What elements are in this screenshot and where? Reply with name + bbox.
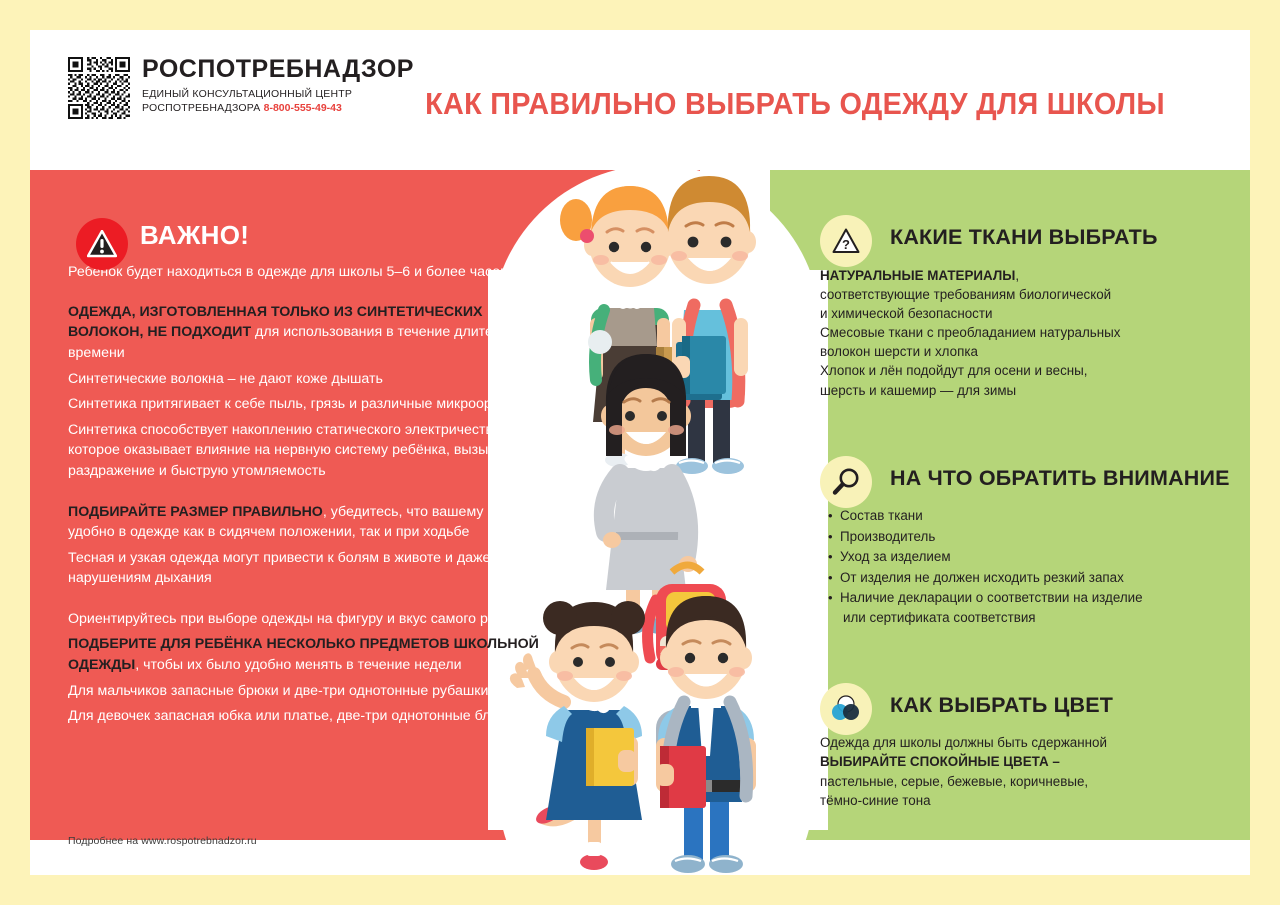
right-content: ? КАКИЕ ТКАНИ ВЫБРАТЬ НАТУРАЛЬНЫЕ МАТЕРИ… <box>820 215 1240 824</box>
size-line-1: Тесная и узкая одежда могут привести к б… <box>68 548 548 589</box>
color-line-2: тёмно-синие тона <box>820 793 931 808</box>
fabrics-line-5: Хлопок и лён подойдут для осени и весны, <box>820 363 1088 378</box>
attention-item-3: Уход за изделием <box>840 549 951 564</box>
section-fabrics: ? КАКИЕ ТКАНИ ВЫБРАТЬ НАТУРАЛЬНЫЕ МАТЕРИ… <box>820 215 1240 400</box>
synthetic-line-1: Синтетические волокна – не дают коже дыш… <box>68 369 548 390</box>
brand-subtitle: ЕДИНЫЙ КОНСУЛЬТАЦИОННЫЙ ЦЕНТР РОСПОТРЕБН… <box>142 87 414 115</box>
section-attention-title: НА ЧТО ОБРАТИТЬ ВНИМАНИЕ <box>890 456 1240 491</box>
color-wheel-icon <box>820 683 872 735</box>
left-block-wardrobe: ПОДБЕРИТЕ ДЛЯ РЕБЁНКА НЕСКОЛЬКО ПРЕДМЕТО… <box>68 634 548 675</box>
page-title: КАК ПРАВИЛЬНО ВЫБРАТЬ ОДЕЖДУ ДЛЯ ШКОЛЫ <box>414 86 1177 122</box>
question-triangle-icon: ? <box>820 215 872 267</box>
list-item: От изделия не должен исходить резкий зап… <box>828 568 1240 588</box>
list-item: Уход за изделием <box>828 547 1240 567</box>
synthetic-line-2: Синтетика притягивает к себе пыль, грязь… <box>68 394 548 415</box>
wardrobe-rest: , чтобы их было удобно менять в течение … <box>135 657 461 673</box>
list-item: Состав ткани <box>828 506 1240 526</box>
synthetic-line-3: Синтетика способствует накоплению статич… <box>68 420 548 482</box>
section-color: КАК ВЫБРАТЬ ЦВЕТ Одежда для школы должны… <box>820 683 1240 810</box>
brand-subtitle-line2: РОСПОТРЕБНАДЗОРА <box>142 102 261 114</box>
section-fabrics-body: НАТУРАЛЬНЫЕ МАТЕРИАЛЫ, соответствующие т… <box>820 266 1240 400</box>
brand-subtitle-line1: ЕДИНЫЙ КОНСУЛЬТАЦИОННЫЙ ЦЕНТР <box>142 88 352 100</box>
left-block-synthetic: ОДЕЖДА, ИЗГОТОВЛЕННАЯ ТОЛЬКО ИЗ СИНТЕТИЧ… <box>68 302 548 364</box>
poster: РОСПОТРЕБНАДЗОР ЕДИНЫЙ КОНСУЛЬТАЦИОННЫЙ … <box>30 30 1250 875</box>
left-content: ВАЖНО! Ребенок будет находиться в одежде… <box>68 215 548 727</box>
list-item: Производитель <box>828 527 1240 547</box>
section-attention: НА ЧТО ОБРАТИТЬ ВНИМАНИЕ Состав ткани Пр… <box>820 456 1240 629</box>
fabrics-line-1: соответствующие требованиям биологическо… <box>820 287 1111 302</box>
attention-item-5: Наличие декларации о соответствии на изд… <box>840 590 1143 605</box>
important-lead: Ребенок будет находиться в одежде для шк… <box>68 262 548 282</box>
attention-item-5-cont: или сертификата соответствия <box>840 608 1240 628</box>
hotline-phone: 8-800-555-49-43 <box>264 102 342 114</box>
size-bold: ПОДБИРАЙТЕ РАЗМЕР ПРАВИЛЬНО <box>68 504 323 520</box>
fabrics-line-3: Смесовые ткани с преобладанием натуральн… <box>820 325 1120 340</box>
wardrobe-line-2: Для девочек запасная юбка или платье, дв… <box>68 706 548 727</box>
magnifier-icon <box>820 456 872 508</box>
section-color-title: КАК ВЫБРАТЬ ЦВЕТ <box>890 683 1240 718</box>
color-bold: ВЫБИРАЙТЕ СПОКОЙНЫЕ ЦВЕТА – <box>820 754 1060 769</box>
section-fabrics-title: КАКИЕ ТКАНИ ВЫБРАТЬ <box>890 215 1240 250</box>
left-block-size: ПОДБИРАЙТЕ РАЗМЕР ПРАВИЛЬНО, убедитесь, … <box>68 502 548 543</box>
color-line-1: пастельные, серые, бежевые, коричневые, <box>820 774 1088 789</box>
left-block-wardrobe-pre: Ориентируйтесь при выборе одежды на фигу… <box>68 609 548 630</box>
footer-note: Подробнее на www.rospotrebnadzor.ru <box>68 835 257 847</box>
logo-text: РОСПОТРЕБНАДЗОР ЕДИНЫЙ КОНСУЛЬТАЦИОННЫЙ … <box>142 55 414 115</box>
brand-name: РОСПОТРЕБНАДЗОР <box>142 57 414 82</box>
color-pre: Одежда для школы должны быть сдержанной <box>820 735 1107 750</box>
poster-header: РОСПОТРЕБНАДЗОР ЕДИНЫЙ КОНСУЛЬТАЦИОННЫЙ … <box>30 30 1250 170</box>
fabrics-line-6: шерсть и кашемир — для зимы <box>820 383 1016 398</box>
fabrics-line-4: волокон шерсти и хлопка <box>820 344 978 359</box>
attention-item-2: Производитель <box>840 529 935 544</box>
attention-bullet-list: Состав ткани Производитель Уход за издел… <box>828 506 1240 628</box>
fabrics-bold: НАТУРАЛЬНЫЕ МАТЕРИАЛЫ <box>820 268 1015 283</box>
fabrics-bold-tail: , <box>1015 268 1019 283</box>
logo-block: РОСПОТРЕБНАДЗОР ЕДИНЫЙ КОНСУЛЬТАЦИОННЫЙ … <box>68 55 414 119</box>
warning-triangle-icon <box>76 218 128 270</box>
svg-text:?: ? <box>842 237 850 252</box>
wardrobe-line-1: Для мальчиков запасные брюки и две-три о… <box>68 681 548 702</box>
attention-item-1: Состав ткани <box>840 508 923 523</box>
qr-code-icon <box>68 57 130 119</box>
list-item: Наличие декларации о соответствии на изд… <box>828 588 1240 629</box>
attention-item-4: От изделия не должен исходить резкий зап… <box>840 570 1124 585</box>
section-color-body: Одежда для школы должны быть сдержанной … <box>820 733 1240 810</box>
important-heading: ВАЖНО! <box>140 215 548 250</box>
fabrics-line-2: и химической безопасности <box>820 306 993 321</box>
